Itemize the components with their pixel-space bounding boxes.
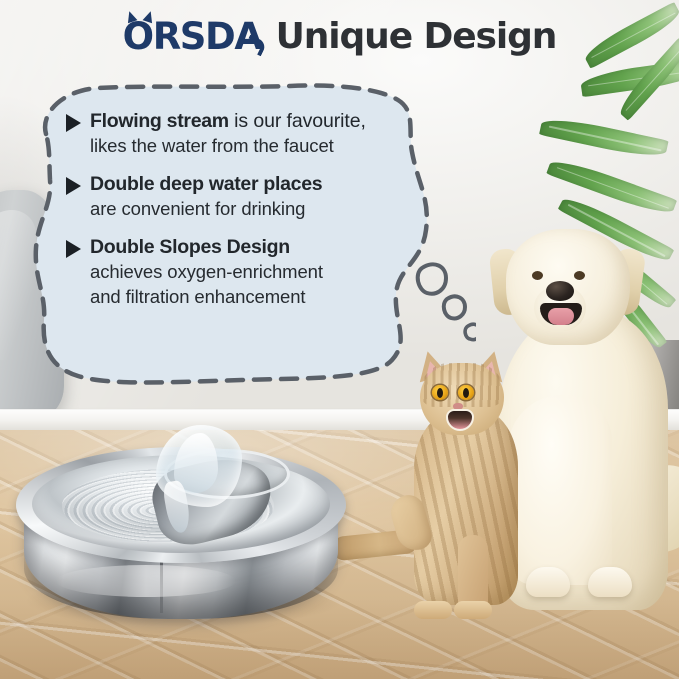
page-title: Unique Design	[276, 16, 557, 57]
bullet-marker-icon	[66, 114, 81, 132]
dog-nose	[546, 281, 574, 301]
feature-3-bold: Double Slopes Design	[90, 236, 290, 258]
stainless-steel-pet-water-fountain	[16, 425, 351, 630]
cat-ear-left-icon	[124, 9, 137, 23]
dog-eye-left	[532, 271, 543, 280]
feature-item-3: Double Slopes Design achieves oxygen-enr…	[66, 236, 396, 309]
product-infographic: Flowing stream is our favourite, likes t…	[0, 0, 679, 679]
bubble-feature-list: Flowing stream is our favourite, likes t…	[66, 110, 396, 309]
feature-1-bold: Flowing stream	[90, 110, 229, 132]
fountain-body-highlight	[56, 565, 236, 597]
brand-name: ORSDA	[123, 15, 262, 58]
feature-item-1: Flowing stream is our favourite, likes t…	[66, 110, 396, 158]
plant-leaf	[539, 114, 669, 161]
thought-dot-small	[465, 324, 476, 339]
bullet-marker-icon	[66, 177, 81, 195]
cat-foot-left	[414, 601, 452, 619]
dog-paw-right	[588, 567, 632, 597]
feature-2-sub: are convenient for drinking	[90, 196, 396, 221]
thought-bubble: Flowing stream is our favourite, likes t…	[6, 72, 476, 412]
feature-item-2: Double deep water places are convenient …	[66, 173, 396, 221]
feature-1-sub: likes the water from the faucet	[90, 133, 396, 158]
dog-eye-right	[574, 271, 585, 280]
feature-2-bold: Double deep water places	[90, 173, 322, 195]
feature-3-sub: achieves oxygen-enrichment and filtratio…	[90, 259, 396, 309]
thought-dot-medium	[444, 296, 465, 318]
bullet-marker-icon	[66, 240, 81, 258]
feature-1-inline: is our favourite,	[229, 110, 366, 132]
header: ORSDA Unique Design	[0, 8, 679, 64]
dog-tongue	[548, 308, 574, 325]
orsda-logo: ORSDA	[123, 15, 262, 58]
thought-dot-large	[418, 264, 446, 293]
cat-foot-right	[454, 601, 492, 619]
